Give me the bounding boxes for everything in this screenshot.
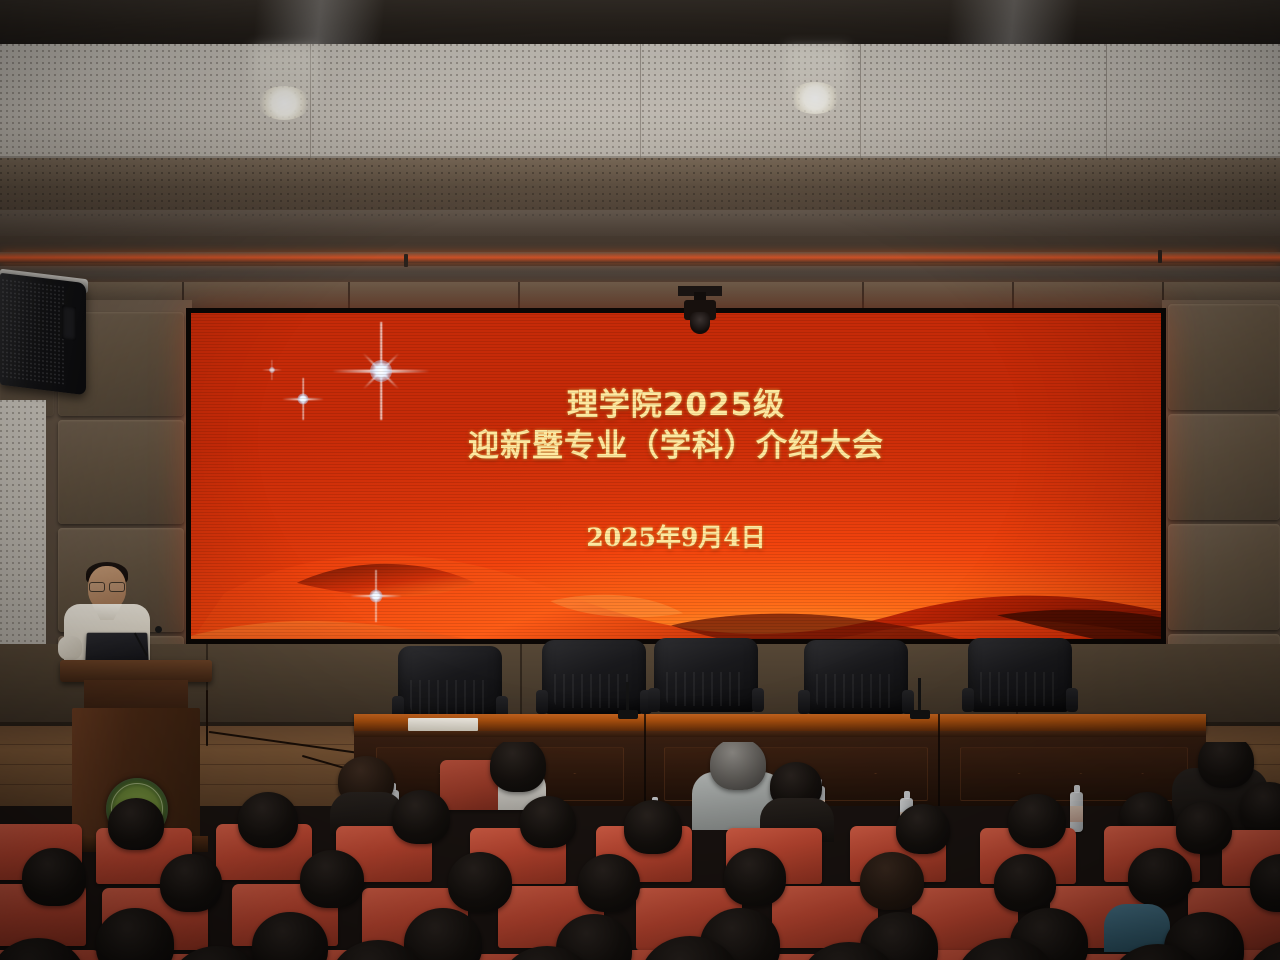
chair-armrest — [536, 690, 548, 714]
light-rail-glass — [0, 210, 1280, 236]
ceiling — [0, 44, 1280, 160]
table-microphone-base — [910, 710, 930, 719]
rail-hanger — [1158, 250, 1162, 263]
ceiling-beam-reflection — [0, 0, 1280, 46]
wall-pad — [58, 420, 184, 524]
ceiling-downlight — [258, 86, 310, 120]
table-microphone-base — [618, 710, 638, 719]
podium-neck — [84, 680, 188, 710]
wall-pad — [1168, 304, 1280, 410]
audience-head — [1198, 742, 1254, 788]
screen-date: 2025年9月4日 — [191, 518, 1161, 554]
presenter-glasses — [89, 582, 125, 590]
audience-head — [1008, 794, 1066, 848]
ceiling-seam — [1106, 44, 1107, 160]
audience-head — [392, 790, 450, 844]
chair-backrest — [968, 638, 1072, 712]
audience-head — [578, 854, 640, 912]
audience-head — [896, 804, 950, 854]
audience-seating — [0, 742, 1280, 960]
chair-backrest — [398, 646, 502, 720]
light-rail-upper — [0, 252, 1280, 263]
upper-wall-perforation — [0, 158, 1280, 216]
chair-armrest — [1066, 688, 1078, 712]
audience-head — [1128, 848, 1192, 906]
audience-head — [490, 742, 546, 792]
audience-head — [22, 848, 86, 906]
audience-head — [724, 848, 786, 906]
stage-led-screen[interactable]: 理学院2025级 迎新暨专业（学科）介绍大会 2025年9月4日 — [186, 308, 1166, 644]
table-name-card — [408, 718, 478, 731]
chair-backrest — [804, 640, 908, 714]
sparkle-star — [349, 569, 403, 623]
table-top — [354, 714, 1206, 732]
chair-backrest — [654, 638, 758, 712]
ceiling-seam — [640, 44, 641, 160]
rail-hanger — [404, 254, 408, 267]
podium-microphone-head — [155, 626, 162, 633]
chair-armrest — [962, 688, 974, 712]
ceiling-downlight — [790, 82, 840, 114]
red-silk-ribbon-graphic — [191, 496, 1161, 639]
table-microphone-stem — [918, 678, 921, 714]
audience-head — [238, 792, 298, 848]
audience-head — [860, 852, 924, 910]
podium-top — [60, 660, 212, 682]
led-screen-surface: 理学院2025级 迎新暨专业（学科）介绍大会 2025年9月4日 — [191, 313, 1161, 639]
audience-head — [160, 854, 222, 912]
presenter-arm — [58, 636, 82, 660]
audience-head — [710, 742, 766, 790]
stage-chair[interactable] — [654, 638, 758, 726]
chair-armrest — [798, 690, 810, 714]
audience-head — [448, 852, 512, 912]
wall-pad — [1168, 414, 1280, 520]
ceiling-seam — [860, 44, 861, 160]
chair-armrest — [648, 688, 660, 712]
audience-head — [994, 854, 1056, 912]
auditorium-scene: 理学院2025级 迎新暨专业（学科）介绍大会 2025年9月4日 — [0, 0, 1280, 960]
loudspeaker-grille — [2, 279, 66, 387]
audience-head — [520, 796, 576, 848]
ceiling-camera-lens — [690, 312, 710, 334]
sparkle-star — [261, 359, 283, 381]
upper-wall — [0, 158, 1280, 288]
audience-head — [108, 798, 164, 850]
screen-title: 理学院2025级 迎新暨专业（学科）介绍大会 — [191, 385, 1161, 468]
audience-head — [1176, 802, 1232, 854]
wall-pad — [1168, 524, 1280, 630]
audience-head — [624, 800, 682, 854]
stage-chair[interactable] — [968, 638, 1072, 726]
audience-head — [300, 850, 364, 908]
screen-title-line1: 理学院2025级 — [191, 385, 1161, 427]
screen-title-line2: 迎新暨专业（学科）介绍大会 — [191, 426, 1161, 468]
stage-cable — [206, 690, 208, 746]
chair-armrest — [752, 688, 764, 712]
chair-backrest — [542, 640, 646, 714]
loudspeaker-port — [62, 305, 76, 341]
